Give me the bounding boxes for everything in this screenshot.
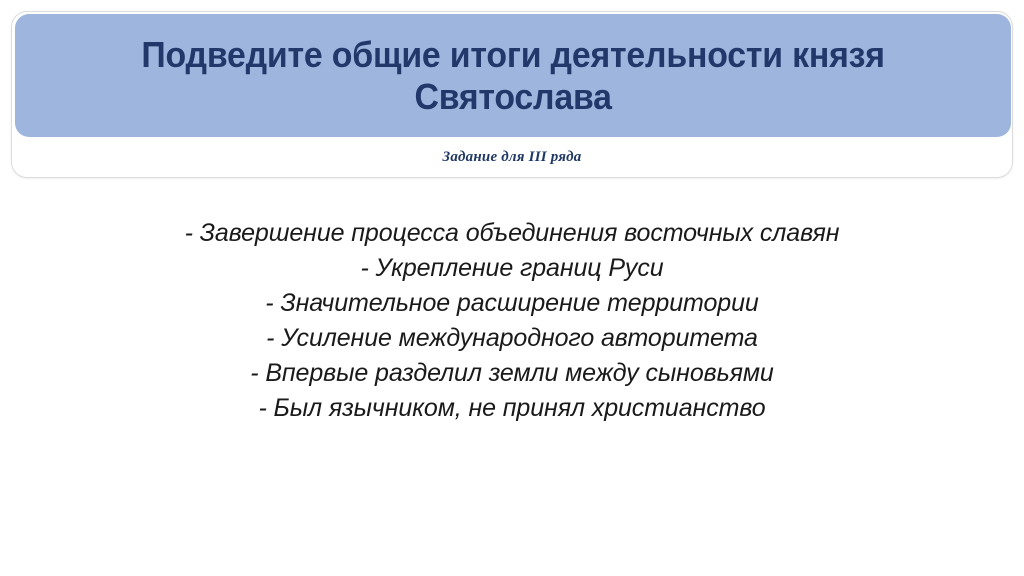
header-card: Подведите общие итоги деятельности князя… bbox=[11, 11, 1013, 178]
body-bullet-list: - Завершение процесса объединения восточ… bbox=[0, 216, 1024, 426]
list-item: - Значительное расширение территории bbox=[0, 286, 1024, 321]
list-item: - Был язычником, не принял христианство bbox=[0, 391, 1024, 426]
page-title: Подведите общие итоги деятельности князя… bbox=[73, 34, 953, 118]
slide-canvas: Подведите общие итоги деятельности князя… bbox=[0, 0, 1024, 576]
list-item: - Усиление международного авторитета bbox=[0, 321, 1024, 356]
title-band: Подведите общие итоги деятельности князя… bbox=[15, 14, 1011, 137]
list-item: - Укрепление границ Руси bbox=[0, 251, 1024, 286]
list-item: - Впервые разделил земли между сыновьями bbox=[0, 356, 1024, 391]
list-item: - Завершение процесса объединения восточ… bbox=[0, 216, 1024, 251]
subtitle-area: Задание для III ряда bbox=[12, 137, 1012, 177]
subtitle: Задание для III ряда bbox=[443, 149, 582, 166]
